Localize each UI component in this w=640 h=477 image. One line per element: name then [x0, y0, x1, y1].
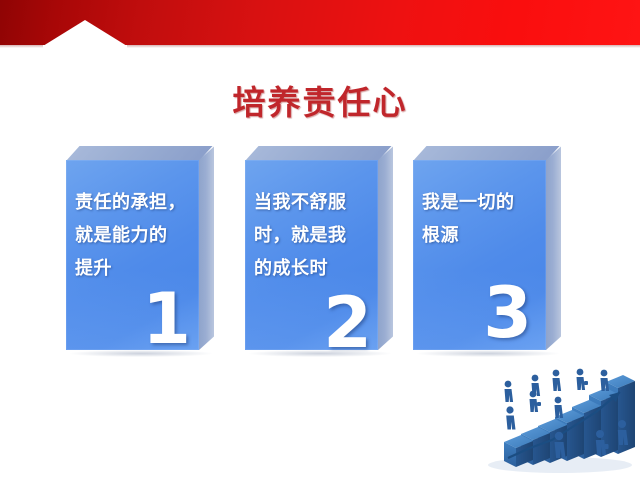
growth-bar-chart-with-people-illustration	[478, 362, 640, 477]
box-2-number: 2	[323, 288, 372, 358]
info-box-2[interactable]: 当我不舒服 时，就是我 的成长时 2	[245, 160, 378, 350]
slide-canvas: 培养责任心 责任的承担， 就是能力的 提升 1 当我不舒服 时，就是我 的成长时…	[0, 0, 640, 477]
box-1-top-face	[66, 146, 213, 161]
info-box-1[interactable]: 责任的承担， 就是能力的 提升 1	[66, 160, 199, 350]
info-box-3[interactable]: 我是一切的 根源 3	[413, 160, 546, 350]
box-3-right-face	[546, 146, 561, 350]
box-2-right-face	[378, 146, 393, 350]
box-1-text: 责任的承担， 就是能力的 提升	[75, 186, 195, 285]
box-2-text: 当我不舒服 时，就是我 的成长时	[254, 186, 374, 285]
box-1-right-face	[199, 146, 214, 350]
box-2-top-face	[245, 146, 392, 161]
box-3-top-face	[413, 146, 560, 161]
box-1-number: 1	[142, 284, 191, 354]
box-3-text: 我是一切的 根源	[422, 186, 542, 252]
box-3-number: 3	[483, 278, 532, 348]
